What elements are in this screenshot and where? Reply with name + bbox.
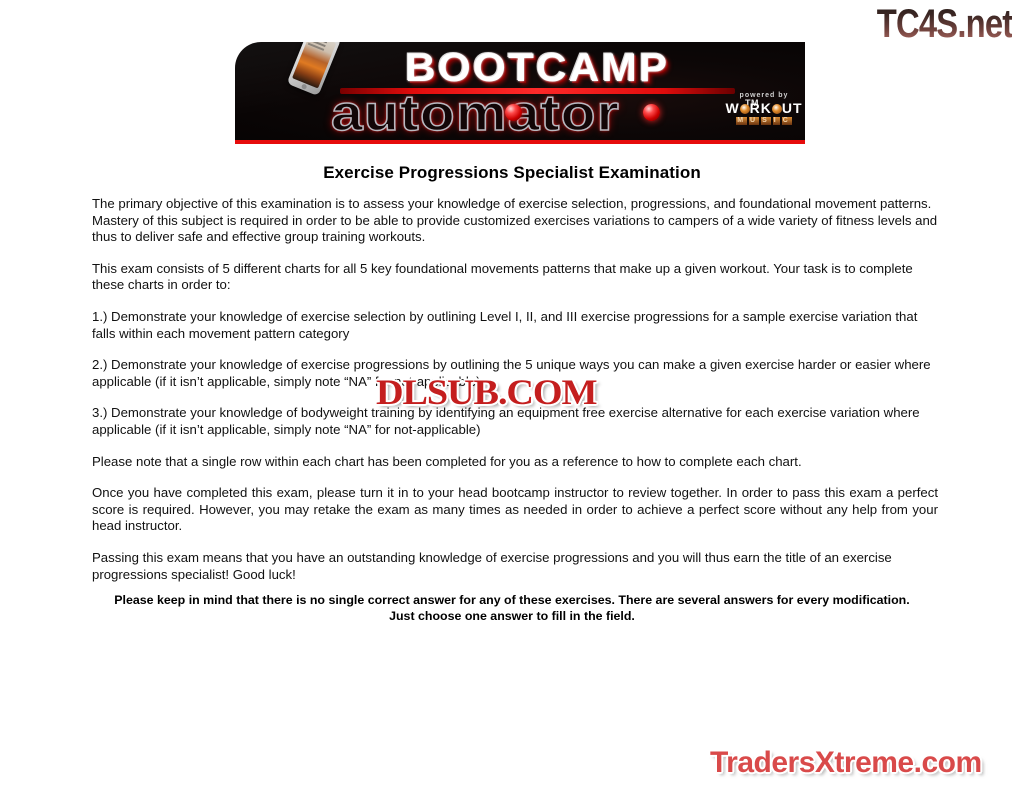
workout-music-logo: WRKUT <box>725 101 803 116</box>
workout-music-sublabel: MUSIC <box>725 117 803 125</box>
red-orb-icon-2 <box>643 104 660 121</box>
workout-o-ring-icon-2 <box>772 104 782 114</box>
paragraph-task-1: 1.) Demonstrate your knowledge of exerci… <box>92 309 938 342</box>
smartphone-screen <box>292 42 336 88</box>
workout-o-ring-icon <box>740 104 750 114</box>
tradersxtreme-watermark: TradersXtreme.com <box>710 746 982 780</box>
paragraph-exam-structure: This exam consists of 5 different charts… <box>92 261 938 294</box>
powered-by-block: powered by WRKUT MUSIC <box>725 92 803 125</box>
brand-automator-wordmark: automator <box>331 86 620 140</box>
paragraph-objective: The primary objective of this examinatio… <box>92 196 938 246</box>
paragraph-reference-row: Please note that a single row within eac… <box>92 454 938 471</box>
tc4s-site-watermark: TC4S.net <box>876 2 1012 46</box>
page-title: Exercise Progressions Specialist Examina… <box>0 163 1024 183</box>
powered-by-label: powered by <box>725 92 803 99</box>
bootcamp-automator-banner: BOOTCAMP automator TM powered by WRKUT M… <box>235 42 805 144</box>
paragraph-submission: Once you have completed this exam, pleas… <box>92 485 938 535</box>
paragraph-passing: Passing this exam means that you have an… <box>92 550 938 583</box>
footer-note: Please keep in mind that there is no sin… <box>112 592 912 624</box>
brand-bootcamp-wordmark: BOOTCAMP <box>405 47 669 89</box>
smartphone-home-button <box>300 83 307 90</box>
red-orb-icon-1 <box>505 104 522 121</box>
dlsub-overlay-watermark: DLSUB.COM <box>376 374 597 410</box>
